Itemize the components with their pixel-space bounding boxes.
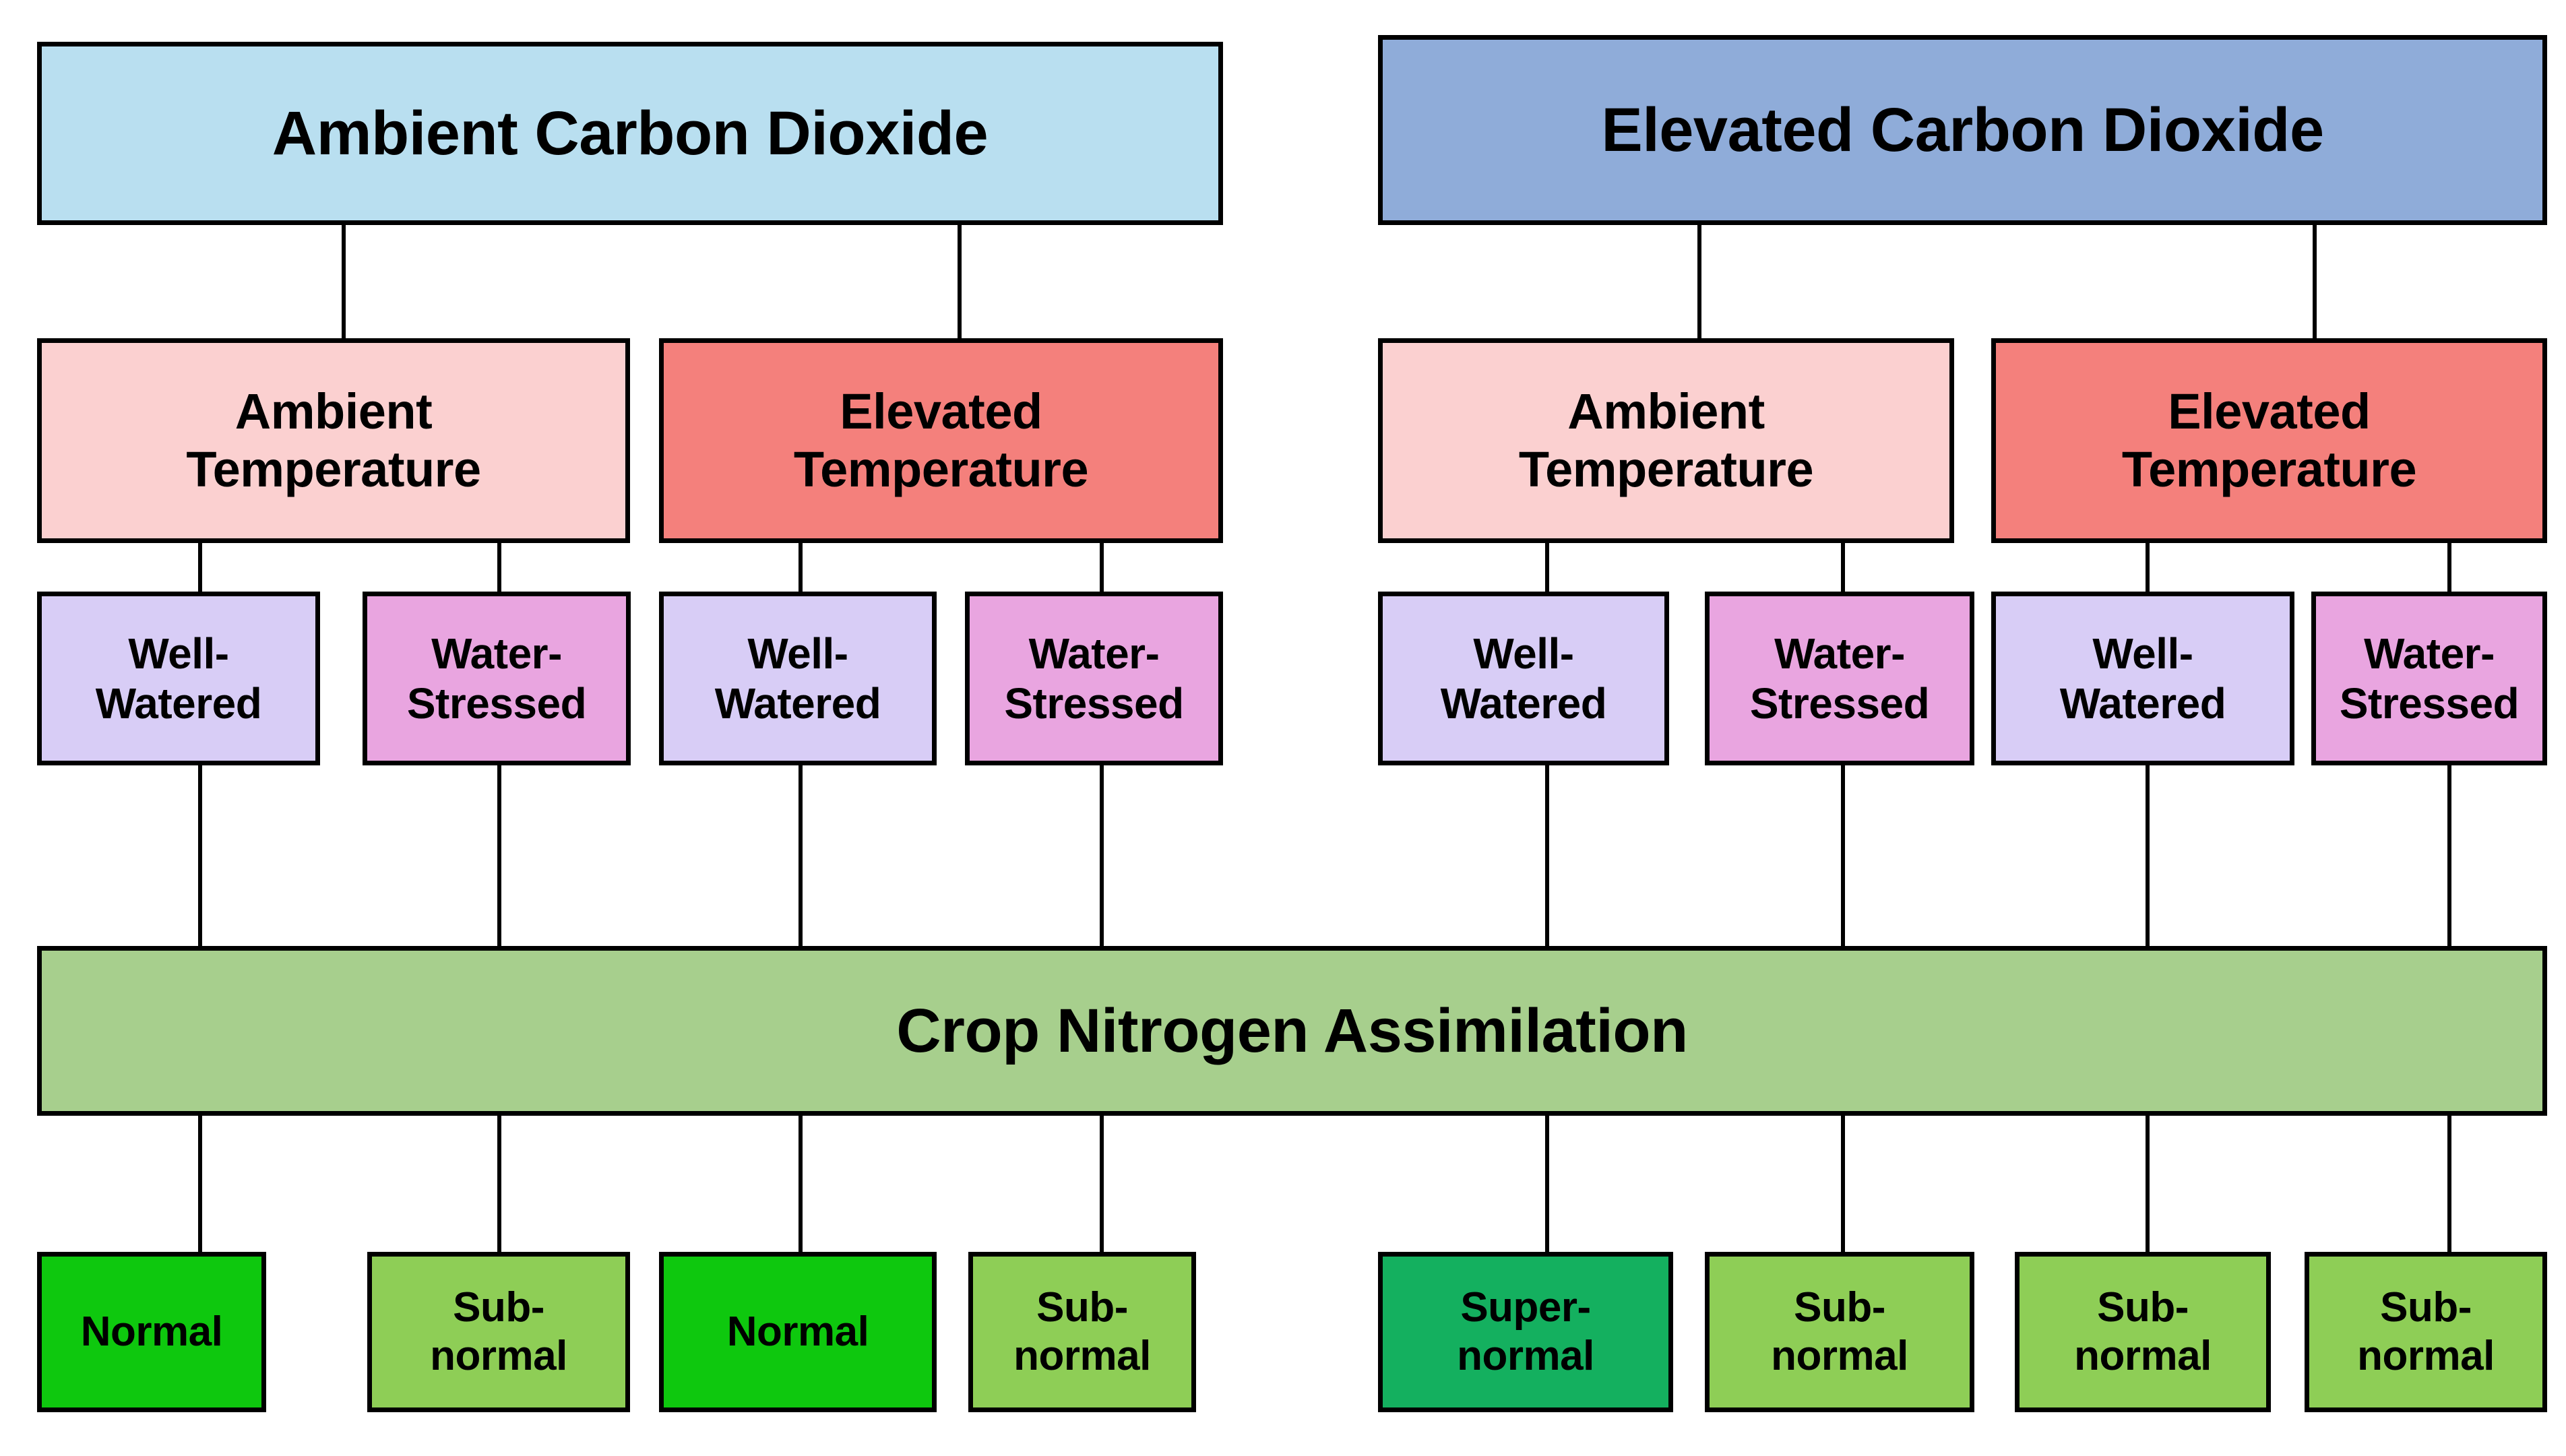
node-label-line2: Stressed (407, 678, 586, 728)
node-label-line1: Super- (1460, 1284, 1590, 1332)
node-outcome-subnormal-5[interactable]: Sub- normal (2305, 1252, 2547, 1412)
connector-ws4-to-assimilation (2447, 765, 2451, 949)
node-outcome-normal-2[interactable]: Normal (659, 1252, 937, 1412)
node-label: Ambient Carbon Dioxide (272, 98, 988, 170)
connector-assimilation-to-outcome-7 (2146, 1115, 2150, 1253)
node-label-line1: Ambient (1567, 383, 1765, 441)
connector-assimilation-to-outcome-5 (1545, 1115, 1549, 1253)
connector-ww3-to-assimilation (1545, 765, 1549, 949)
node-label-line1: Sub- (453, 1284, 544, 1332)
connector-assimilation-to-outcome-4 (1100, 1115, 1104, 1253)
node-label-line2: Temperature (794, 441, 1088, 499)
connector-co2a-to-tempe (958, 222, 962, 344)
connector-co2a-to-tempa (342, 222, 346, 344)
node-label-line2: normal (2357, 1332, 2495, 1381)
node-label-line1: Sub- (1036, 1284, 1128, 1332)
connector-assimilation-to-outcome-1 (198, 1115, 202, 1253)
connector-ws2-to-assimilation (1100, 765, 1104, 949)
node-outcome-subnormal-4[interactable]: Sub- normal (2015, 1252, 2271, 1412)
node-water-stressed-3[interactable]: Water- Stressed (1705, 592, 1974, 765)
node-outcome-supernormal[interactable]: Super- normal (1378, 1252, 1673, 1412)
connector-tempe1-to-ws2 (1100, 543, 1104, 594)
node-label-line1: Water- (431, 629, 562, 678)
node-label-line2: Temperature (2122, 441, 2416, 499)
node-label: Crop Nitrogen Assimilation (896, 995, 1688, 1067)
node-label-line2: Watered (715, 678, 881, 728)
node-label-line1: Water- (1774, 629, 1905, 678)
node-label-line1: Elevated (2168, 383, 2370, 441)
node-label-line2: normal (2074, 1332, 2212, 1381)
node-outcome-normal-1[interactable]: Normal (37, 1252, 266, 1412)
node-label-line2: Watered (2060, 678, 2226, 728)
connector-co2e-to-tempe (2313, 222, 2317, 344)
node-label-line1: Well- (747, 629, 848, 678)
node-label-line2: Stressed (1750, 678, 1929, 728)
connector-tempa2-to-ww3 (1545, 543, 1549, 594)
node-label-line1: Water- (1029, 629, 1160, 678)
node-well-watered-3[interactable]: Well- Watered (1378, 592, 1669, 765)
node-ambient-temperature-1[interactable]: Ambient Temperature (37, 338, 630, 543)
node-label-line1: Sub- (2097, 1284, 2189, 1332)
node-label-line2: normal (1771, 1332, 1908, 1381)
node-label-line2: normal (1013, 1332, 1151, 1381)
node-label-line1: Elevated (840, 383, 1042, 441)
flowchart-canvas: Ambient Carbon Dioxide Elevated Carbon D… (0, 0, 2566, 1456)
node-outcome-subnormal-3[interactable]: Sub- normal (1705, 1252, 1974, 1412)
node-label-line2: normal (430, 1332, 567, 1381)
node-label-line1: Sub- (1794, 1284, 1885, 1332)
node-label-line1: Normal (727, 1308, 869, 1356)
node-label-line1: Sub- (2380, 1284, 2472, 1332)
node-label-line2: Watered (96, 678, 262, 728)
connector-assimilation-to-outcome-2 (497, 1115, 501, 1253)
node-label-line2: Temperature (1519, 441, 1813, 499)
node-well-watered-1[interactable]: Well- Watered (37, 592, 320, 765)
node-label: Elevated Carbon Dioxide (1601, 94, 2323, 166)
node-label-line1: Normal (81, 1308, 223, 1356)
node-label-line1: Water- (2364, 629, 2495, 678)
node-elevated-temperature-2[interactable]: Elevated Temperature (1991, 338, 2547, 543)
node-label-line2: Temperature (186, 441, 480, 499)
connector-assimilation-to-outcome-8 (2447, 1115, 2451, 1253)
node-well-watered-2[interactable]: Well- Watered (659, 592, 937, 765)
connector-tempa1-to-ww1 (198, 543, 202, 594)
node-crop-nitrogen-assimilation[interactable]: Crop Nitrogen Assimilation (37, 946, 2547, 1116)
connector-ws3-to-assimilation (1841, 765, 1845, 949)
connector-tempa1-to-ws1 (497, 543, 501, 594)
node-elevated-carbon-dioxide[interactable]: Elevated Carbon Dioxide (1378, 35, 2547, 225)
connector-tempa2-to-ws3 (1841, 543, 1845, 594)
connector-ww4-to-assimilation (2146, 765, 2150, 949)
node-label-line1: Well- (128, 629, 228, 678)
node-elevated-temperature-1[interactable]: Elevated Temperature (659, 338, 1223, 543)
connector-ws1-to-assimilation (497, 765, 501, 949)
node-water-stressed-1[interactable]: Water- Stressed (363, 592, 631, 765)
node-ambient-temperature-2[interactable]: Ambient Temperature (1378, 338, 1954, 543)
node-label-line2: Watered (1441, 678, 1607, 728)
node-label-line2: Stressed (2340, 678, 2519, 728)
node-label-line1: Ambient (235, 383, 433, 441)
connector-assimilation-to-outcome-3 (799, 1115, 803, 1253)
connector-tempe1-to-ww2 (799, 543, 803, 594)
node-label-line2: normal (1457, 1332, 1594, 1381)
node-outcome-subnormal-2[interactable]: Sub- normal (968, 1252, 1196, 1412)
node-water-stressed-4[interactable]: Water- Stressed (2311, 592, 2547, 765)
node-label-line1: Well- (1473, 629, 1573, 678)
node-label-line2: Stressed (1004, 678, 1183, 728)
connector-tempe2-to-ws4 (2447, 543, 2451, 594)
connector-ww2-to-assimilation (799, 765, 803, 949)
node-ambient-carbon-dioxide[interactable]: Ambient Carbon Dioxide (37, 42, 1223, 225)
node-outcome-subnormal-1[interactable]: Sub- normal (367, 1252, 630, 1412)
node-well-watered-4[interactable]: Well- Watered (1991, 592, 2294, 765)
node-label-line1: Well- (2092, 629, 2193, 678)
node-water-stressed-2[interactable]: Water- Stressed (965, 592, 1223, 765)
connector-tempe2-to-ww4 (2146, 543, 2150, 594)
connector-ww1-to-assimilation (198, 765, 202, 949)
connector-co2e-to-tempa (1697, 222, 1701, 344)
connector-assimilation-to-outcome-6 (1841, 1115, 1845, 1253)
